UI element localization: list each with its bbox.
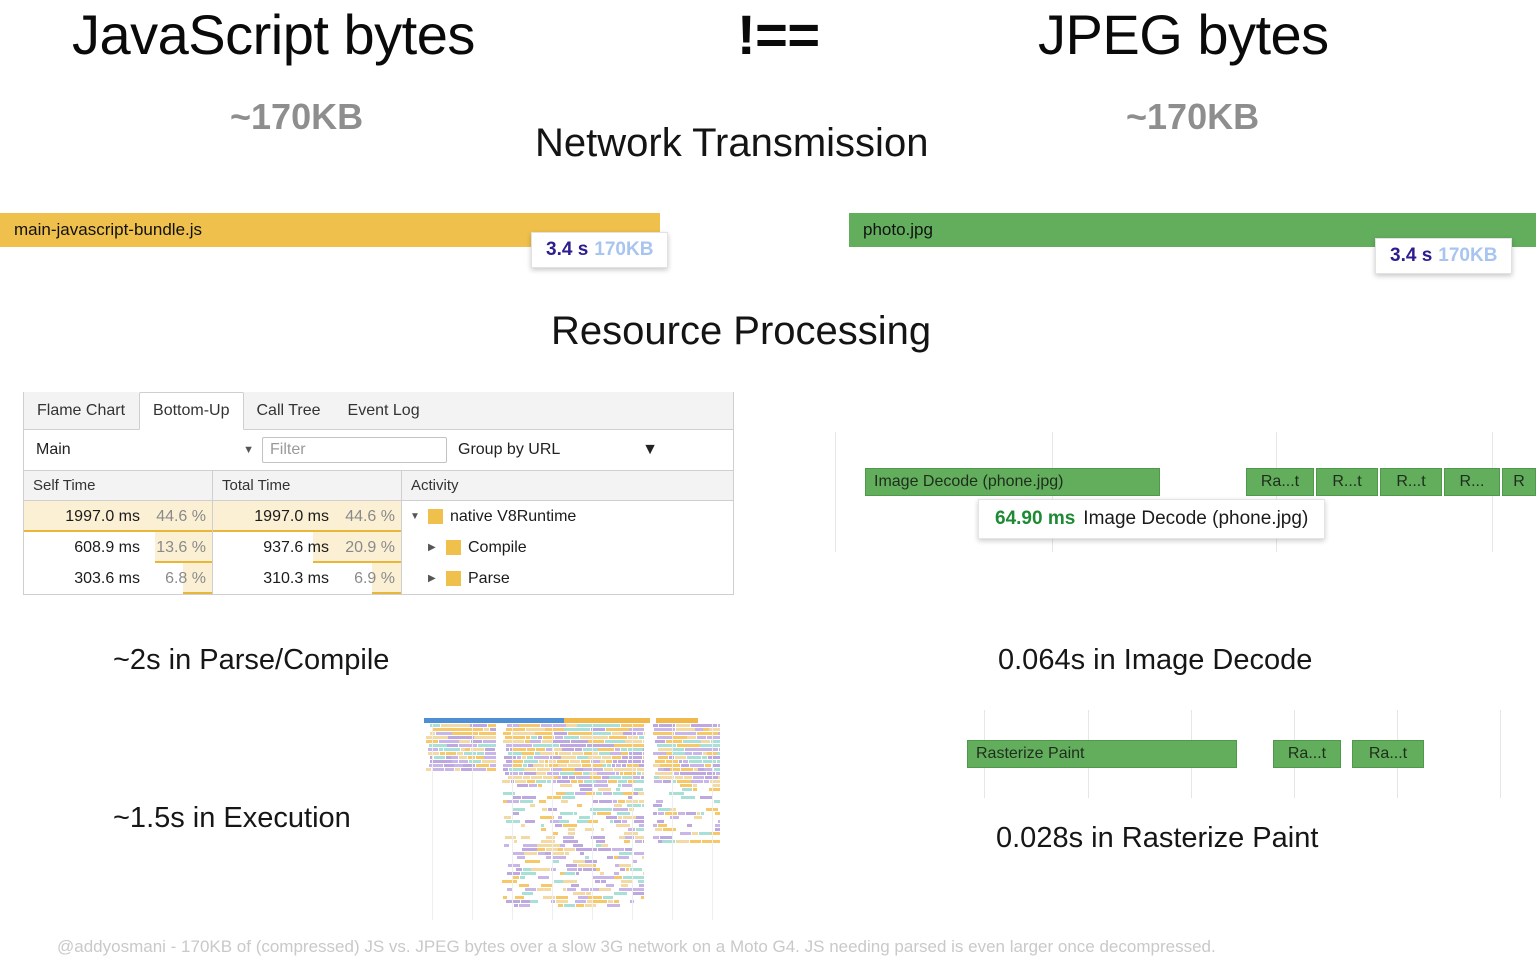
flame-frame	[679, 748, 684, 751]
flame-frame	[701, 740, 710, 743]
flame-frame	[608, 900, 614, 903]
flame-frame	[524, 772, 536, 775]
flame-frame	[714, 800, 720, 803]
flame-frame	[525, 860, 540, 863]
flame-frame	[609, 736, 628, 739]
flame-frame	[693, 752, 703, 755]
flame-frame	[623, 732, 629, 735]
flame-frame	[614, 820, 622, 823]
flame-frame	[697, 732, 718, 735]
flame-frame	[554, 748, 562, 751]
flame-frame	[716, 772, 720, 775]
timeline-event-bar[interactable]: Rasterize Paint	[967, 740, 1237, 768]
flame-frame	[614, 804, 621, 807]
cell-percent: 6.8 %	[148, 570, 206, 588]
flame-frame	[616, 788, 620, 791]
flame-frame	[582, 764, 592, 767]
flame-frame	[619, 836, 625, 839]
flame-frame	[575, 768, 582, 771]
cell-activity: ▶Compile	[402, 532, 733, 563]
flame-frame	[521, 872, 529, 875]
timeline-gridline	[835, 432, 836, 552]
flame-frame	[556, 792, 565, 795]
flame-gridline	[712, 724, 713, 920]
timeline-event-bar[interactable]: R	[1502, 468, 1536, 496]
flame-frame	[567, 868, 577, 871]
flame-frame	[612, 756, 621, 759]
flame-frame	[618, 780, 627, 783]
flame-frame	[634, 792, 638, 795]
flame-frame	[697, 736, 707, 739]
flame-frame	[441, 728, 470, 731]
flame-frame	[522, 796, 536, 799]
flame-frame	[524, 852, 537, 855]
flame-frame	[617, 812, 631, 815]
flame-frame	[591, 728, 605, 731]
flame-frame	[541, 724, 566, 727]
flame-frame	[521, 900, 530, 903]
flame-frame	[507, 800, 519, 803]
flame-frame	[680, 772, 691, 775]
flame-frame	[608, 780, 618, 783]
chevron-down-icon: ▼	[243, 444, 254, 456]
flame-frame	[523, 844, 537, 847]
cell-activity: ▼native V8Runtime	[402, 501, 733, 532]
flame-frame	[523, 764, 527, 767]
flame-frame	[618, 784, 621, 787]
flame-frame	[513, 748, 526, 751]
flame-frame	[658, 840, 662, 843]
flame-frame	[564, 848, 576, 851]
flame-frame	[707, 736, 720, 739]
flame-frame	[533, 764, 544, 767]
flame-frame	[564, 872, 575, 875]
flame-frame	[512, 732, 535, 735]
flame-gridline	[472, 724, 473, 920]
flame-frame	[698, 768, 704, 771]
flame-frame	[601, 844, 608, 847]
flame-frame	[441, 724, 470, 727]
flame-frame	[490, 764, 496, 767]
timeline-event-label: R...t	[1381, 473, 1441, 491]
flame-frame	[700, 744, 720, 747]
flame-frame	[555, 736, 564, 739]
flame-frame	[558, 816, 563, 819]
flame-frame	[484, 728, 489, 731]
flame-frame	[712, 764, 720, 767]
timeline-event-bar[interactable]: Ra...t	[1246, 468, 1314, 496]
cell-total-time: 1997.0 ms44.6 %	[213, 501, 402, 532]
flame-frame	[691, 724, 718, 727]
activity-label: native V8Runtime	[450, 508, 576, 526]
devtools-tab-bar: Flame ChartBottom-UpCall TreeEvent Log	[24, 392, 733, 430]
flame-frame	[563, 880, 577, 883]
flame-frame	[576, 776, 590, 779]
flame-gridline	[432, 724, 433, 920]
flame-frame	[603, 896, 614, 899]
flame-frame	[505, 836, 511, 839]
flame-frame	[638, 880, 644, 883]
flame-frame	[718, 820, 720, 823]
flame-frame	[594, 784, 608, 787]
flame-frame	[598, 748, 607, 751]
flame-frame	[508, 864, 521, 867]
chevron-right-icon[interactable]: ▶	[428, 573, 439, 584]
group-by-select[interactable]: Group by URL ▼	[458, 441, 658, 459]
flame-frame	[622, 784, 633, 787]
group-by-select-value: Group by URL	[458, 441, 560, 459]
flame-frame	[562, 796, 575, 799]
flame-frame	[567, 888, 576, 891]
timeline-event-label: Ra...t	[1274, 745, 1340, 763]
flame-frame	[585, 856, 589, 859]
timeline-tooltip-image-decode: 64.90 msImage Decode (phone.jpg)	[978, 499, 1325, 539]
annotation-image-decode: 0.064s in Image Decode	[998, 644, 1312, 677]
flame-frame	[585, 904, 596, 907]
flame-frame	[613, 800, 618, 803]
flame-frame	[526, 736, 531, 739]
flame-frame	[564, 736, 579, 739]
cell-percent: 44.6 %	[148, 508, 206, 526]
timeline-event-label: Ra...t	[1353, 745, 1423, 763]
tab-bottom-up[interactable]: Bottom-Up	[139, 392, 243, 430]
flame-frame	[624, 772, 636, 775]
flame-frame	[596, 840, 605, 843]
flame-frame	[526, 728, 545, 731]
timeline-event-label: R	[1503, 473, 1535, 491]
flame-frame	[680, 832, 691, 835]
flame-frame	[444, 764, 454, 767]
flame-frame	[530, 900, 538, 903]
flame-frame	[628, 760, 642, 763]
flame-frame	[614, 892, 627, 895]
flame-frame	[515, 780, 527, 783]
flame-frame	[639, 884, 644, 887]
flame-frame	[568, 764, 581, 767]
flame-frame	[575, 792, 586, 795]
tab-event-log[interactable]: Event Log	[335, 392, 434, 429]
flame-frame	[440, 752, 446, 755]
flame-frame	[612, 772, 615, 775]
flame-frame	[557, 780, 570, 783]
timeline-event-bar[interactable]: Image Decode (phone.jpg)	[865, 468, 1160, 496]
flame-frame	[504, 756, 516, 759]
flame-frame	[655, 760, 665, 763]
flame-header-bar	[656, 718, 698, 723]
devtools-toolbar: Main ▼ Filter Group by URL ▼	[24, 430, 733, 471]
flame-frame	[519, 904, 531, 907]
flame-frame	[538, 852, 545, 855]
flame-frame	[643, 748, 644, 751]
flame-frame	[682, 788, 692, 791]
flame-frame	[616, 772, 619, 775]
column-header-total-time[interactable]: Total Time	[213, 471, 402, 500]
flame-frame	[580, 788, 592, 791]
flame-frame	[657, 736, 673, 739]
flame-frame	[593, 800, 599, 803]
flame-frame	[522, 756, 526, 759]
flame-frame	[549, 844, 559, 847]
flame-frame	[705, 764, 712, 767]
flame-frame	[606, 816, 618, 819]
thread-select[interactable]: Main ▼	[36, 441, 254, 459]
flame-frame	[614, 876, 622, 879]
flame-frame	[663, 828, 676, 831]
flame-frame	[560, 844, 565, 847]
flame-frame	[607, 856, 613, 859]
flame-frame	[575, 748, 582, 751]
flame-frame	[615, 864, 619, 867]
flame-frame	[578, 864, 593, 867]
flame-frame	[627, 804, 642, 807]
tab-label: Event Log	[348, 402, 420, 420]
flame-frame	[556, 896, 569, 899]
table-row[interactable]: 608.9 ms13.6 %937.6 ms20.9 %▶Compile	[24, 532, 733, 563]
flame-frame	[633, 776, 641, 779]
flame-frame	[576, 904, 585, 907]
flame-frame	[603, 764, 606, 767]
flame-frame	[718, 776, 720, 779]
flame-frame	[560, 744, 586, 747]
flame-frame	[472, 768, 486, 771]
flame-frame	[660, 764, 669, 767]
flame-frame	[513, 812, 519, 815]
flame-frame	[639, 800, 644, 803]
flame-frame	[517, 856, 525, 859]
flame-frame	[658, 756, 668, 759]
flame-frame	[512, 764, 522, 767]
flame-frame	[576, 872, 579, 875]
chevron-right-icon[interactable]: ▶	[428, 542, 439, 553]
flame-frame	[459, 760, 468, 763]
network-tooltip-javascript-time: 3.4 s	[546, 239, 588, 260]
flame-frame	[474, 736, 496, 739]
devtools-table-body: 1997.0 ms44.6 %1997.0 ms44.6 %▼native V8…	[24, 501, 733, 594]
flame-frame	[575, 900, 587, 903]
flame-frame	[681, 764, 686, 767]
filter-input[interactable]: Filter	[262, 437, 447, 463]
flame-frame	[577, 756, 588, 759]
flame-frame	[573, 844, 583, 847]
flame-frame	[574, 812, 577, 815]
flame-frame	[585, 860, 597, 863]
flame-frame	[643, 840, 644, 843]
network-tooltip-jpeg-time: 3.4 s	[1390, 245, 1432, 266]
flame-frame	[537, 888, 551, 891]
table-row[interactable]: 303.6 ms6.8 %310.3 ms6.9 %▶Parse	[24, 563, 733, 594]
flame-frame	[520, 800, 533, 803]
flame-frame	[663, 780, 671, 783]
column-header-activity[interactable]: Activity	[402, 471, 733, 500]
flame-frame	[673, 748, 679, 751]
flame-frame	[658, 748, 672, 751]
flame-frame	[536, 780, 546, 783]
flame-frame	[519, 724, 540, 727]
flame-frame	[621, 880, 632, 883]
flame-frame	[704, 780, 710, 783]
flame-frame	[577, 724, 592, 727]
flame-frame	[613, 792, 623, 795]
flame-frame	[483, 740, 497, 743]
flame-frame	[519, 884, 529, 887]
flame-frame	[622, 756, 628, 759]
flame-frame	[581, 760, 591, 763]
flame-frame	[538, 736, 543, 739]
flame-frame	[609, 776, 621, 779]
cell-percent: 44.6 %	[337, 508, 395, 526]
flame-frame	[568, 832, 574, 835]
timeline-event-bar[interactable]: R...	[1444, 468, 1500, 496]
flame-frame	[623, 876, 630, 879]
flame-frame	[655, 772, 658, 775]
flame-frame	[623, 816, 636, 819]
flame-frame	[539, 800, 546, 803]
flame-frame	[602, 756, 612, 759]
flame-frame	[581, 888, 589, 891]
flame-frame	[524, 760, 538, 763]
flame-frame	[618, 760, 627, 763]
flame-frame	[656, 800, 663, 803]
flame-frame	[541, 824, 544, 827]
flame-frame	[687, 756, 702, 759]
timeline-event-bar[interactable]: R...t	[1380, 468, 1442, 496]
flame-frame	[637, 768, 644, 771]
flame-frame	[578, 780, 584, 783]
flame-frame	[660, 836, 672, 839]
flame-frame	[560, 812, 573, 815]
flame-frame	[638, 792, 644, 795]
flame-header-bar	[564, 718, 650, 723]
flame-frame	[521, 824, 525, 827]
flame-frame	[531, 776, 542, 779]
timeline-event-bar[interactable]: Ra...t	[1273, 740, 1341, 768]
column-header-self-time[interactable]: Self Time	[24, 471, 213, 500]
flame-frame	[430, 760, 440, 763]
flame-frame	[570, 760, 580, 763]
flame-frame	[428, 748, 438, 751]
flame-frame	[491, 752, 496, 755]
flame-frame	[639, 736, 644, 739]
flame-frame	[620, 868, 625, 871]
flame-frame	[614, 872, 619, 875]
flame-frame	[502, 780, 510, 783]
timeline-event-bar[interactable]: R...t	[1316, 468, 1378, 496]
flame-frame	[697, 748, 706, 751]
flame-frame	[618, 816, 623, 819]
flame-frame	[463, 764, 475, 767]
flame-frame	[457, 752, 463, 755]
flame-frame	[562, 768, 575, 771]
flame-frame	[507, 872, 520, 875]
flame-frame	[591, 836, 605, 839]
timeline-event-bar[interactable]: Ra...t	[1352, 740, 1424, 768]
flame-frame	[546, 836, 555, 839]
cell-duration: 1997.0 ms	[65, 508, 140, 526]
flame-frame	[690, 764, 704, 767]
flame-frame	[583, 868, 596, 871]
tab-call-tree[interactable]: Call Tree	[244, 392, 335, 429]
flame-frame	[690, 840, 701, 843]
flame-gridline	[512, 724, 513, 920]
flame-frame	[693, 788, 698, 791]
flame-frame	[523, 776, 530, 779]
flame-frame	[584, 780, 596, 783]
flame-frame	[709, 728, 720, 731]
flame-frame	[606, 884, 614, 887]
activity-color-swatch	[446, 571, 461, 586]
flame-frame	[606, 760, 613, 763]
network-tooltip-jpeg: 3.4 s170KB	[1375, 238, 1512, 274]
flame-frame	[610, 752, 620, 755]
chevron-down-icon[interactable]: ▼	[410, 511, 421, 522]
flame-frame	[619, 888, 633, 891]
flame-frame	[565, 792, 574, 795]
timeline-tooltip-duration: 64.90 ms	[995, 508, 1075, 529]
flame-frame	[693, 784, 697, 787]
cell-duration: 1997.0 ms	[254, 508, 329, 526]
flame-frame	[634, 852, 644, 855]
flame-frame	[432, 728, 441, 731]
flame-frame	[537, 848, 545, 851]
flame-frame	[653, 824, 657, 827]
flame-frame	[642, 856, 644, 859]
flame-frame	[598, 764, 602, 767]
flame-frame	[547, 796, 561, 799]
flame-frame	[636, 816, 644, 819]
section-title-network: Network Transmission	[535, 121, 928, 166]
flame-frame	[596, 844, 601, 847]
flame-frame	[658, 768, 664, 771]
flame-frame	[602, 776, 609, 779]
flame-frame	[504, 816, 511, 819]
flame-frame	[538, 876, 549, 879]
flame-frame	[563, 836, 575, 839]
flame-frame	[614, 768, 622, 771]
flame-frame	[612, 732, 623, 735]
table-row[interactable]: 1997.0 ms44.6 %1997.0 ms44.6 %▼native V8…	[24, 501, 733, 532]
flame-frame	[563, 764, 567, 767]
flame-frame	[707, 772, 716, 775]
flame-frame	[715, 824, 721, 827]
flame-frame	[588, 740, 604, 743]
network-tooltip-javascript-size: 170KB	[594, 239, 653, 260]
flame-frame	[527, 748, 535, 751]
flame-frame	[444, 748, 453, 751]
flame-frame	[571, 740, 588, 743]
flame-frame	[613, 808, 628, 811]
flame-frame	[676, 724, 690, 727]
flame-frame	[517, 756, 521, 759]
flame-frame	[503, 764, 512, 767]
flame-frame	[618, 800, 625, 803]
flame-frame	[547, 772, 559, 775]
flame-frame	[563, 824, 577, 827]
flame-frame	[580, 852, 584, 855]
flame-frame	[694, 768, 698, 771]
flame-frame	[439, 740, 459, 743]
tab-label: Call Tree	[257, 402, 321, 420]
flame-frame	[678, 812, 686, 815]
flame-frame	[715, 812, 720, 815]
timeline-event-label: R...t	[1317, 473, 1377, 491]
flame-frame	[536, 748, 545, 751]
flame-frame	[596, 780, 607, 783]
flame-frame	[642, 760, 644, 763]
flame-frame	[677, 744, 700, 747]
tab-flame-chart[interactable]: Flame Chart	[24, 392, 139, 429]
flame-frame	[616, 824, 630, 827]
activity-color-swatch	[446, 540, 461, 555]
